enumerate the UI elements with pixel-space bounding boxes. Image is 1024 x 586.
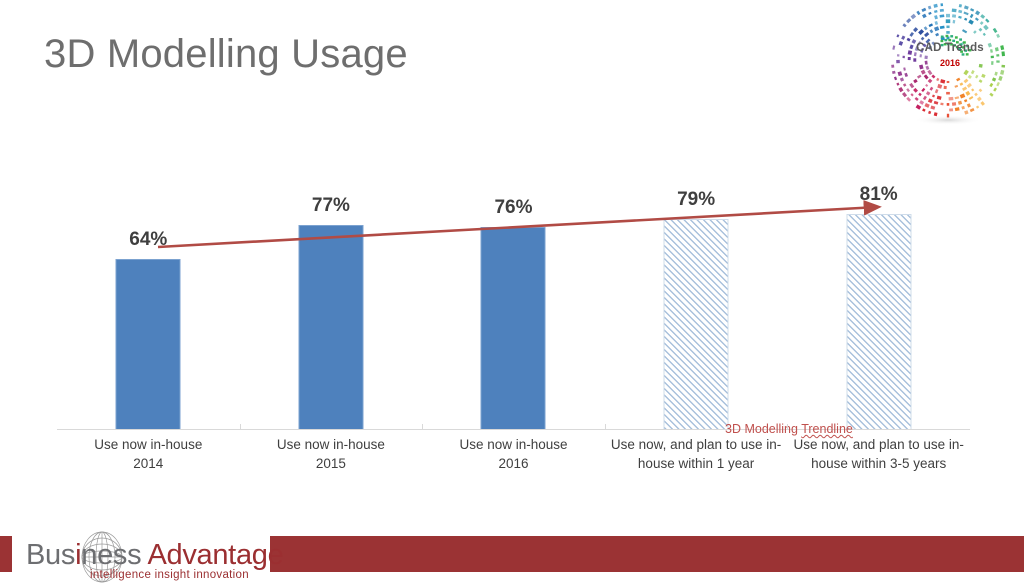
category-label-line: Use now in-house [241,435,422,454]
category-label-line: house within 1 year [606,454,787,473]
category-label-3: Use now in-house2016 [422,435,605,473]
x-axis-category-labels: Use now in-house2014Use now in-house2015… [57,435,970,495]
footer-brand-second: Advantage [147,539,283,571]
axis-tick [422,424,423,430]
category-label-line: Use now in-house [423,435,604,454]
footer-wordmark: Business Advantage [26,539,283,572]
business-advantage-logo: Business Advantage intelligence insight … [12,528,270,586]
cad-trends-logo-year: 2016 [886,58,1014,68]
bar-1 [116,259,181,430]
bar-value-label: 64% [129,229,167,251]
bar-4 [664,219,729,430]
category-label-5: Use now, and plan to use in-house within… [787,435,970,473]
footer-brand-rest: ness [81,539,147,571]
bar-value-label: 79% [677,189,715,211]
category-label-line: house within 3-5 years [788,454,969,473]
bar-value-label: 81% [860,184,898,206]
bar-group: 77% [240,150,423,430]
cad-trends-logo-label: CAD Trends [886,42,1014,54]
plot-area: 64%77%76%79%81% [57,150,970,430]
category-label-2: Use now in-house2015 [240,435,423,473]
category-label-line: Use now, and plan to use in- [788,435,969,454]
cad-trends-logo: CAD Trends 2016 [886,2,1014,130]
bar-group: 81% [787,150,970,430]
category-label-4: Use now, and plan to use in-house within… [605,435,788,473]
category-label-line: 2014 [58,454,239,473]
category-label-1: Use now in-house2014 [57,435,240,473]
category-label-line: 2015 [241,454,422,473]
category-label-line: 2016 [423,454,604,473]
axis-tick [605,424,606,430]
page-title: 3D Modelling Usage [44,32,408,77]
trendline-label: 3D Modelling Trendline [725,422,853,436]
bar-2 [298,225,363,430]
trendline-label-word: Trendline [801,422,853,436]
footer-tagline: intelligence insight innovation [90,569,249,581]
axis-tick [787,424,788,430]
bar-group: 79% [605,150,788,430]
bar-group: 76% [422,150,605,430]
bar-3 [481,227,546,430]
bar-value-label: 77% [312,195,350,217]
bar-chart: 64%77%76%79%81% Use now in-house2014Use … [0,150,1024,500]
axis-tick [240,424,241,430]
category-label-line: Use now, and plan to use in- [606,435,787,454]
bar-5 [846,214,911,430]
bar-group: 64% [57,150,240,430]
footer-brand-first: Bus [26,539,75,571]
bar-value-label: 76% [494,197,532,219]
category-label-line: Use now in-house [58,435,239,454]
